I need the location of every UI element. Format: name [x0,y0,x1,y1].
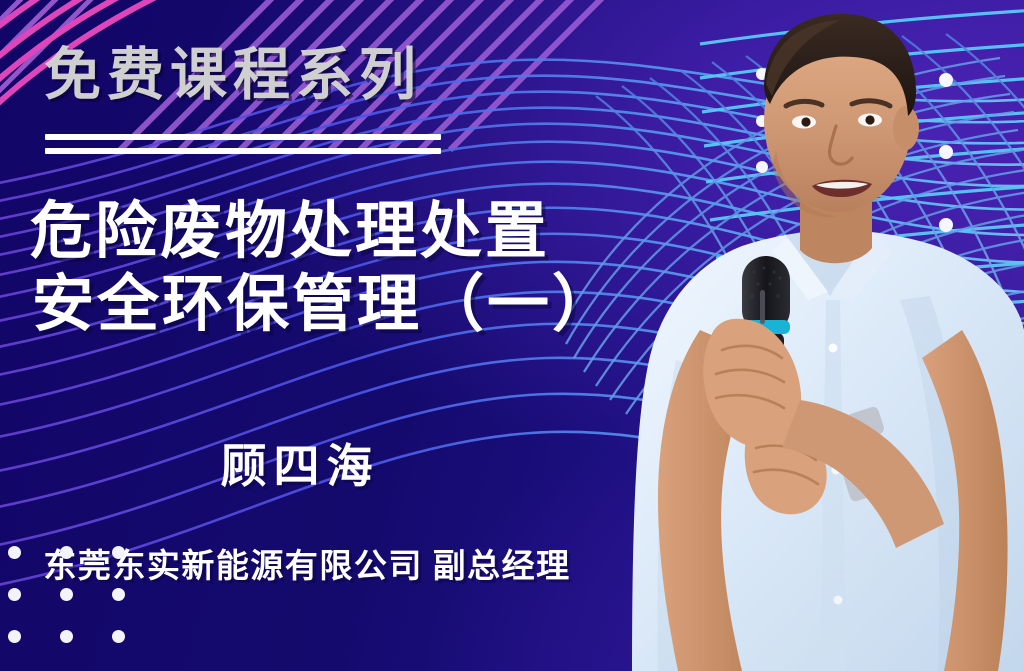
course-cover-poster: 免费课程系列 危险废物处理处置 安全环保管理（一） 顾四海 东莞东实新能源有限公… [0,0,1024,671]
grid-dot [112,630,125,643]
presenter-head [764,14,919,217]
grid-dot [112,546,125,559]
page-title: 危险废物处理处置 安全环保管理（一） [30,196,617,342]
grid-dot [60,546,73,559]
grid-dot [112,588,125,601]
grid-dot [8,630,21,643]
divider-line-top [45,134,441,140]
presenter-affiliation: 东莞东实新能源有限公司 副总经理 [0,539,614,587]
grid-dot [60,630,73,643]
grid-dot [8,588,21,601]
grid-dot [60,588,73,601]
grid-dot [8,546,21,559]
title-line-1: 危险废物处理处置 [30,196,617,269]
presenter-name: 顾四海 [0,430,600,496]
title-line-2: 安全环保管理（一） [32,269,617,342]
kicker-label: 免费课程系列 [44,46,422,105]
divider-line-bottom [45,148,441,154]
